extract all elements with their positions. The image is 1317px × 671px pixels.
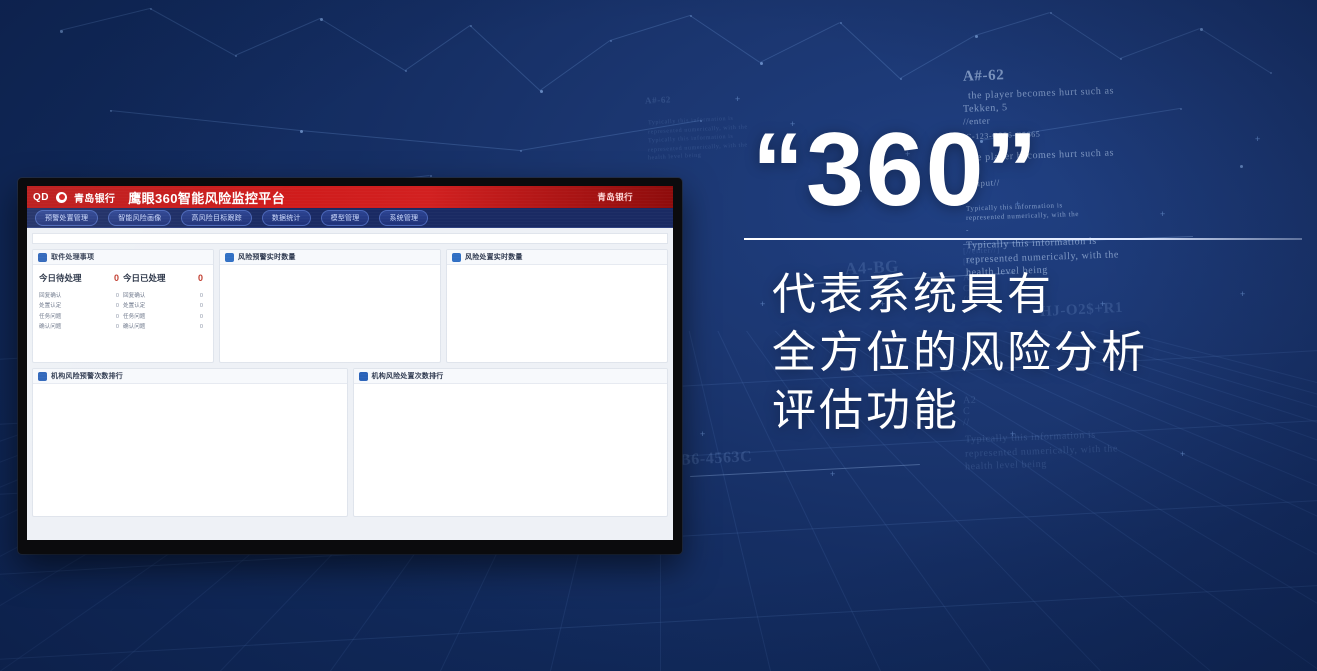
nav-item-3[interactable]: 数据统计 <box>262 210 311 226</box>
card-title: 机构风险处置次数排行 <box>372 371 444 381</box>
pending-column-header: 今日待处理 <box>39 272 82 284</box>
pending-row-value: 0 <box>116 291 123 301</box>
bar-chart-disposal[interactable] <box>354 400 668 516</box>
plus-marker: + <box>735 95 740 104</box>
card-title: 风险处置实时数量 <box>465 252 523 262</box>
slide-text-panel: “360” 代表系统具有 全方位的风险分析 评估功能 <box>744 118 1304 440</box>
card-header: 机构风险处置次数排行 <box>354 369 668 384</box>
plus-marker: + <box>830 470 835 479</box>
bar-chart-icon <box>359 372 368 381</box>
filter-bar[interactable] <box>32 233 668 244</box>
org-alert-ranking-card: 机构风险预警次数排行 <box>32 368 348 517</box>
users-icon <box>225 253 234 262</box>
card-header: 取件处理事项 <box>33 250 213 265</box>
main-nav[interactable]: 预警处置管理智能风险画像高风险目标跟踪数据统计模型管理系统管理 <box>27 208 673 228</box>
card-body: 今日待处理0回复确认0处置认定0任务问题0确认问题0今日已处理0回复确认0处置认… <box>33 265 213 362</box>
card-title: 机构风险预警次数排行 <box>51 371 123 381</box>
donut-chart-alerts[interactable] <box>220 265 440 362</box>
card-body <box>447 265 667 362</box>
pending-row: 回复确认0 <box>39 291 123 301</box>
pending-row-value: 0 <box>200 312 207 322</box>
org-disposal-ranking-card: 机构风险处置次数排行 <box>353 368 669 517</box>
pending-row: 确认问题0 <box>123 322 207 332</box>
nav-item-0[interactable]: 预警处置管理 <box>35 210 98 226</box>
pending-row: 确认问题0 <box>39 322 123 332</box>
card-header: 风险处置实时数量 <box>447 250 667 265</box>
nav-item-4[interactable]: 模型管理 <box>321 210 370 226</box>
list-icon <box>38 253 47 262</box>
pending-row-value: 0 <box>200 301 207 311</box>
description-line-3: 评估功能 <box>772 382 1304 440</box>
card-header: 机构风险预警次数排行 <box>33 369 347 384</box>
pending-row-label: 任务问题 <box>123 312 145 322</box>
description-line-1: 代表系统具有 <box>772 266 1304 324</box>
pending-column-header: 今日已处理 <box>123 272 166 284</box>
pending-row: 任务问题0 <box>123 312 207 322</box>
plus-marker: + <box>1180 450 1185 459</box>
card-body <box>33 384 347 516</box>
pending-row-label: 处置认定 <box>39 301 61 311</box>
pending-row: 处置认定0 <box>39 301 123 311</box>
pending-row-label: 回复确认 <box>39 291 61 301</box>
donut-chart-disposal[interactable] <box>447 265 667 362</box>
card-header: 风险预警实时数量 <box>220 250 440 265</box>
pending-row-label: 处置认定 <box>123 301 145 311</box>
bar-chart-icon <box>38 372 47 381</box>
card-title: 取件处理事项 <box>51 252 94 262</box>
description-lines: 代表系统具有 全方位的风险分析 评估功能 <box>744 266 1304 440</box>
headline-quote: “360” <box>744 118 1304 222</box>
dashboard-body: 取件处理事项 今日待处理0回复确认0处置认定0任务问题0确认问题0今日已处理0回… <box>27 228 673 540</box>
logo-abbr: QD <box>33 192 49 203</box>
description-line-2: 全方位的风险分析 <box>772 324 1304 382</box>
card-body <box>220 265 440 362</box>
pending-row: 任务问题0 <box>39 312 123 322</box>
nav-item-2[interactable]: 高风险目标跟踪 <box>181 210 251 226</box>
pending-row-value: 0 <box>116 322 123 332</box>
pending-column-0: 今日待处理0回复确认0处置认定0任务问题0确认问题0 <box>39 272 123 332</box>
plus-marker: + <box>700 430 705 439</box>
pending-row-value: 0 <box>200 291 207 301</box>
bar-chart-alerts[interactable] <box>33 400 347 516</box>
pending-row: 处置认定0 <box>123 301 207 311</box>
pending-column-1: 今日已处理0回复确认0处置认定0任务问题0确认问题0 <box>123 272 207 332</box>
risk-alert-count-card: 风险预警实时数量 <box>219 249 441 363</box>
pending-row-label: 确认问题 <box>39 322 61 332</box>
risk-disposal-count-card: 风险处置实时数量 <box>446 249 668 363</box>
pending-row-label: 任务问题 <box>39 312 61 322</box>
chart-legend[interactable] <box>354 384 668 389</box>
card-title: 风险预警实时数量 <box>238 252 296 262</box>
logo-name: 青岛银行 <box>74 190 115 205</box>
nav-item-1[interactable]: 智能风险画像 <box>108 210 171 226</box>
headline-divider <box>744 238 1302 240</box>
pending-row-label: 确认问题 <box>123 322 145 332</box>
pending-row-value: 0 <box>200 322 207 332</box>
pending-row: 回复确认0 <box>123 291 207 301</box>
app-header: QD 青岛银行 鹰眼360智能风险监控平台 青岛银行 <box>27 186 673 208</box>
pending-row-value: 0 <box>116 301 123 311</box>
bank-logo-icon <box>56 192 67 203</box>
dashboard-row-bottom: 机构风险预警次数排行 机构风险处置次数排行 <box>32 368 668 517</box>
app-title: 鹰眼360智能风险监控平台 <box>128 188 285 207</box>
pending-tasks-card: 取件处理事项 今日待处理0回复确认0处置认定0任务问题0确认问题0今日已处理0回… <box>32 249 214 363</box>
dashboard-screen: QD 青岛银行 鹰眼360智能风险监控平台 青岛银行 预警处置管理智能风险画像高… <box>27 186 673 540</box>
card-body <box>354 384 668 516</box>
dashboard-row-top: 取件处理事项 今日待处理0回复确认0处置认定0任务问题0确认问题0今日已处理0回… <box>32 249 668 363</box>
pending-row-value: 0 <box>116 312 123 322</box>
clock-icon <box>452 253 461 262</box>
monitor-bezel: QD 青岛银行 鹰眼360智能风险监控平台 青岛银行 预警处置管理智能风险画像高… <box>18 178 682 554</box>
header-bank-label: 青岛银行 <box>597 191 667 203</box>
pending-column-value: 0 <box>114 273 123 283</box>
pending-column-value: 0 <box>198 273 207 283</box>
nav-item-5[interactable]: 系统管理 <box>379 210 428 226</box>
pending-tasks-grid: 今日待处理0回复确认0处置认定0任务问题0确认问题0今日已处理0回复确认0处置认… <box>33 265 213 332</box>
pending-row-label: 回复确认 <box>123 291 145 301</box>
chart-legend[interactable] <box>33 384 347 389</box>
